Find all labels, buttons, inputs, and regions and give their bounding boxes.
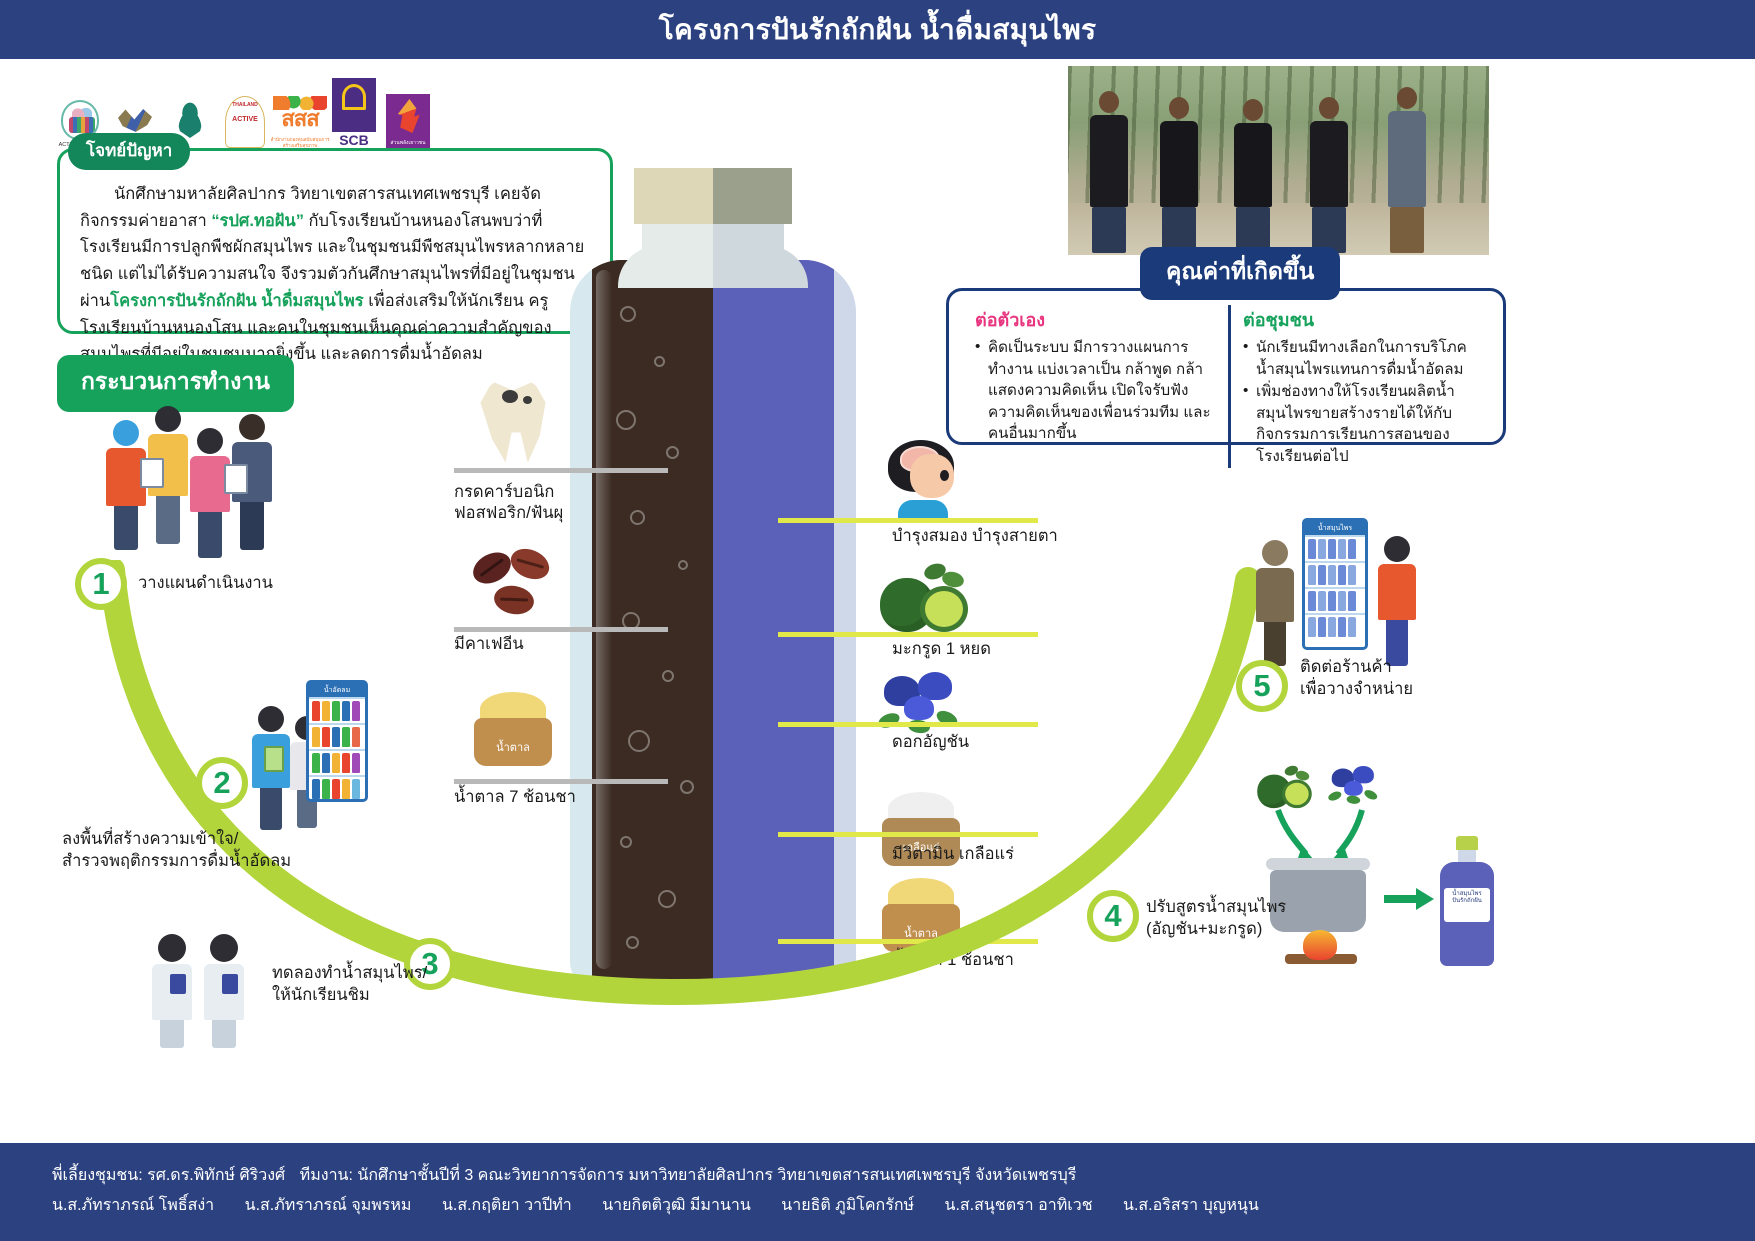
label-line: สำรวจพฤติกรรมการดื่มน้ำอัดลม xyxy=(62,850,291,872)
team-credit: ทีมงาน: นักศึกษาชั้นปีที่ 3 คณะวิทยาการจ… xyxy=(300,1167,1077,1184)
label-line: ทดลองทำน้ำสมุนไพร/ xyxy=(272,962,427,984)
value-column-community: ต่อชุมชน นักเรียนมีทางเลือกในการบริโภคน้… xyxy=(1228,305,1493,468)
step-label-1: วางแผนดำเนินงาน xyxy=(138,572,273,594)
problem-tag: โจทย์ปัญหา xyxy=(68,133,190,170)
team-photo xyxy=(1068,66,1489,255)
member-name: น.ส.ภัทราภรณ์ โพธิ์สง่า xyxy=(52,1197,214,1214)
member-name: น.ส.ภัทราภรณ์ จุมพรหม xyxy=(245,1197,412,1214)
member-name: นายกิตติวุฒิ มีมานาน xyxy=(602,1197,751,1214)
step5-illustration: น้ำสมุนไพร xyxy=(1252,518,1432,668)
mentor-credit: พี่เลี้ยงชุมชน: รศ.ดร.พิทักษ์ ศิริวงศ์ xyxy=(52,1167,285,1184)
logo-caption: สำนักงานกองทุนสนับสนุนการสร้างเสริมสุขภา… xyxy=(269,137,331,148)
soda-fridge: น้ำอัดลม xyxy=(306,680,368,802)
tooth-icon xyxy=(476,378,550,466)
label-line: วางแผนดำเนินงาน xyxy=(138,572,273,594)
value-self-list: คิดเป็นระบบ มีการวางแผนการทำงาน แบ่งเวลา… xyxy=(975,337,1216,445)
header-bar: โครงการปันรักถักฝัน น้ำดื่มสมุนไพร xyxy=(0,0,1755,59)
problem-highlight-project: โครงการปันรักถักฝัน น้ำดื่มสมุนไพร xyxy=(110,292,363,310)
problem-statement-box: โจทย์ปัญหา นักศึกษามหาลัยศิลปากร วิทยาเข… xyxy=(57,148,613,334)
label-line: กรดคาร์บอนิก xyxy=(454,482,563,503)
label-line: ปันรักถักฝัน xyxy=(1444,898,1490,905)
logo-text: SCB xyxy=(332,132,376,148)
label-line: เพื่อวางจำหน่าย xyxy=(1300,678,1413,700)
logo-line2: ACTIVE xyxy=(226,116,264,123)
value-column-self: ต่อตัวเอง คิดเป็นระบบ มีการวางแผนการทำงา… xyxy=(963,305,1228,468)
label-line: ติดต่อร้านค้า xyxy=(1300,656,1413,678)
step-number-1: 1 xyxy=(75,558,127,610)
list-item: นักเรียนมีทางเลือกในการบริโภคน้ำสมุนไพรแ… xyxy=(1243,337,1481,380)
scb-logo: SCB xyxy=(332,78,376,148)
step4-illustration: น้ำสมุนไพร ปันรักถักฝัน xyxy=(1256,766,1516,966)
fridge-label: น้ำสมุนไพร xyxy=(1305,521,1365,535)
value-panel-tag: คุณค่าที่เกิดขึ้น xyxy=(1140,247,1340,300)
poster-root: โครงการปันรักถักฝัน น้ำดื่มสมุนไพร ACTIV… xyxy=(0,0,1755,1241)
footer-line-2: น.ส.ภัทราภรณ์ โพธิ์สง่า น.ส.ภัทราภรณ์ จุ… xyxy=(52,1191,1755,1221)
bottle-right-label-0: บำรุงสมอง บำรุงสายตา xyxy=(892,526,1058,547)
bottle-cap-right xyxy=(713,168,792,224)
herbal-fridge: น้ำสมุนไพร xyxy=(1302,518,1368,650)
divider-line xyxy=(454,468,668,473)
problem-highlight-camp: “รปศ.ทอฝัน” xyxy=(211,212,304,230)
member-name: น.ส.สนุชตรา อาทิเวช xyxy=(945,1197,1093,1214)
sss-logo: สสส สำนักงานกองทุนสนับสนุนการสร้างเสริมส… xyxy=(277,94,323,148)
value-community-heading: ต่อชุมชน xyxy=(1243,305,1481,334)
member-name: นายธิติ ภูมิโคกรักษ์ xyxy=(781,1197,914,1214)
member-name: น.ส.กฤติยา วาปีทำ xyxy=(442,1197,572,1214)
logo-text: สสส xyxy=(269,108,331,130)
final-product-bottle: น้ำสมุนไพร ปันรักถักฝัน xyxy=(1440,836,1494,968)
thailand-active-citizen-logo: THAILAND ACTIVE xyxy=(222,94,268,148)
problem-text: นักศึกษามหาลัยศิลปากร วิทยาเขตสารสนเทศเพ… xyxy=(80,181,596,368)
value-panel: ต่อตัวเอง คิดเป็นระบบ มีการวางแผนการทำงา… xyxy=(946,288,1506,445)
value-self-heading: ต่อตัวเอง xyxy=(975,305,1216,334)
label-line: ให้นักเรียนชิม xyxy=(272,984,427,1006)
label-line: ฟอสฟอริก/ฟันผุ xyxy=(454,503,563,524)
logo-caption: ส่วนพลังเยาวชน xyxy=(386,141,430,147)
bottle-left-label-0: กรดคาร์บอนิก ฟอสฟอริก/ฟันผุ xyxy=(454,482,563,525)
step-label-4: ปรับสูตรน้ำสมุนไพร (อัญชัน+มะกรูด) xyxy=(1146,896,1286,940)
step-number-5: 5 xyxy=(1236,660,1288,712)
logo-line1: THAILAND xyxy=(226,103,264,109)
step-number-2: 2 xyxy=(196,757,248,809)
step1-illustration xyxy=(96,398,276,568)
step-label-3: ทดลองทำน้ำสมุนไพร/ ให้นักเรียนชิม xyxy=(272,962,427,1006)
label-line: ลงพื้นที่สร้างความเข้าใจ/ xyxy=(62,828,291,850)
step3-illustration xyxy=(148,928,268,1038)
member-name: น.ส.อริสรา บุญหนุน xyxy=(1123,1197,1259,1214)
divider-line xyxy=(778,518,1038,523)
page-title: โครงการปันรักถักฝัน น้ำดื่มสมุนไพร xyxy=(659,8,1097,52)
step-number-4: 4 xyxy=(1087,890,1139,942)
step-label-2: ลงพื้นที่สร้างความเข้าใจ/ สำรวจพฤติกรรมก… xyxy=(62,828,291,872)
songkhla-foundation-logo: ส่วนพลังเยาวชน xyxy=(385,94,431,148)
arrow-right-icon xyxy=(1382,886,1436,912)
footer-line-1: พี่เลี้ยงชุมชน: รศ.ดร.พิทักษ์ ศิริวงศ์ ท… xyxy=(52,1161,1755,1191)
label-line: บำรุงสมอง บำรุงสายตา xyxy=(892,526,1058,547)
label-line: น้ำสมุนไพร xyxy=(1444,891,1490,898)
value-community-list: นักเรียนมีทางเลือกในการบริโภคน้ำสมุนไพรแ… xyxy=(1243,337,1481,467)
label-line: ปรับสูตรน้ำสมุนไพร xyxy=(1146,896,1286,918)
footer-credits: พี่เลี้ยงชุมชน: รศ.ดร.พิทักษ์ ศิริวงศ์ ท… xyxy=(0,1143,1755,1241)
brain-head-icon xyxy=(884,440,958,520)
fridge-label: น้ำอัดลม xyxy=(309,683,365,697)
label-line: (อัญชัน+มะกรูด) xyxy=(1146,918,1286,940)
mix-arrows-icon xyxy=(1262,806,1392,864)
bottle-cap-left xyxy=(634,168,713,224)
step-label-5: ติดต่อร้านค้า เพื่อวางจำหน่าย xyxy=(1300,656,1413,700)
list-item: เพิ่มช่องทางให้โรงเรียนผลิตน้ำสมุนไพรขาย… xyxy=(1243,381,1481,467)
step2-illustration: น้ำอัดลม xyxy=(246,672,376,812)
list-item: คิดเป็นระบบ มีการวางแผนการทำงาน แบ่งเวลา… xyxy=(975,337,1216,445)
